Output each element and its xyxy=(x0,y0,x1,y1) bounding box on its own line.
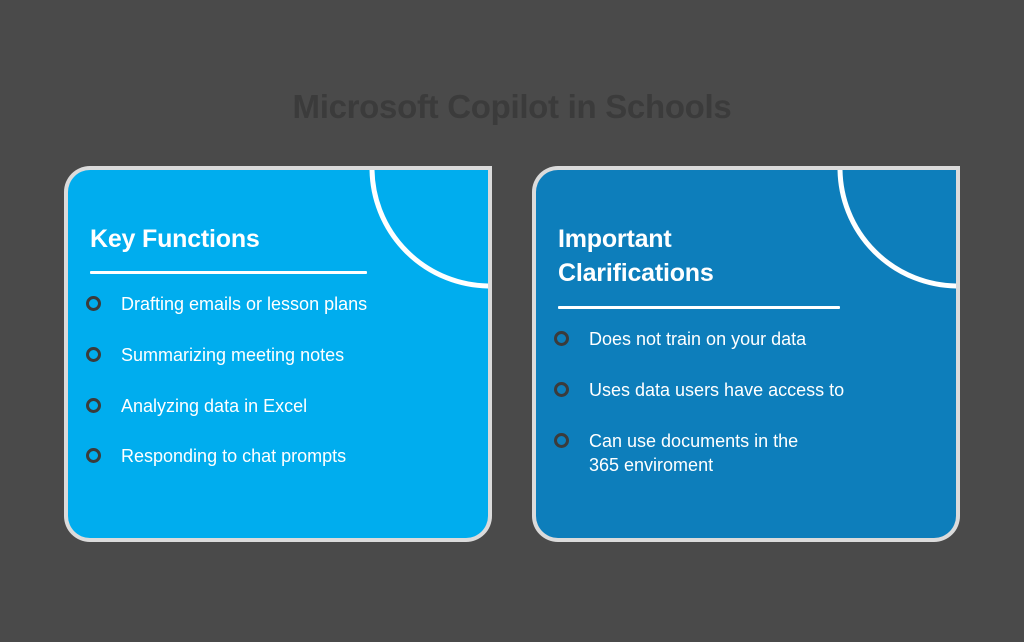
bullet-ring-icon xyxy=(554,331,569,346)
bullet-ring-icon xyxy=(86,398,101,413)
list-item-label: Analyzing data in Excel xyxy=(121,394,307,419)
list-item: Summarizing meeting notes xyxy=(86,343,472,368)
list-item-label: Does not train on your data xyxy=(589,327,806,352)
list-item: Does not train on your data xyxy=(554,327,940,352)
list-item: Analyzing data in Excel xyxy=(86,394,472,419)
card-heading-important-clarifications: Important Clarifications xyxy=(558,223,714,291)
list-item-label: Uses data users have access to xyxy=(589,378,844,403)
card-key-functions: Key Functions Drafting emails or lesson … xyxy=(68,170,488,538)
card-important-clarifications: Important Clarifications Does not train … xyxy=(536,170,956,538)
bullet-ring-icon xyxy=(86,448,101,463)
list-item: Uses data users have access to xyxy=(554,378,940,403)
list-item: Drafting emails or lesson plans xyxy=(86,292,472,317)
bullet-ring-icon xyxy=(86,296,101,311)
list-item-label: Drafting emails or lesson plans xyxy=(121,292,367,317)
list-item-label: Responding to chat prompts xyxy=(121,444,346,469)
corner-arc-decoration-icon xyxy=(366,170,488,292)
heading-divider xyxy=(90,271,367,274)
list-item: Can use documents in the 365 enviroment xyxy=(554,429,940,479)
bullet-ring-icon xyxy=(554,382,569,397)
bullet-ring-icon xyxy=(554,433,569,448)
bullet-list-key-functions: Drafting emails or lesson plans Summariz… xyxy=(86,292,472,469)
list-item-label: Summarizing meeting notes xyxy=(121,343,344,368)
list-item: Responding to chat prompts xyxy=(86,444,472,469)
bullet-list-important-clarifications: Does not train on your data Uses data us… xyxy=(554,327,940,478)
bullet-ring-icon xyxy=(86,347,101,362)
list-item-label: Can use documents in the 365 enviroment xyxy=(589,429,798,479)
page-title: Microsoft Copilot in Schools xyxy=(0,88,1024,126)
corner-arc-decoration-icon xyxy=(834,170,956,292)
card-heading-key-functions: Key Functions xyxy=(90,223,260,257)
heading-divider xyxy=(558,306,840,309)
